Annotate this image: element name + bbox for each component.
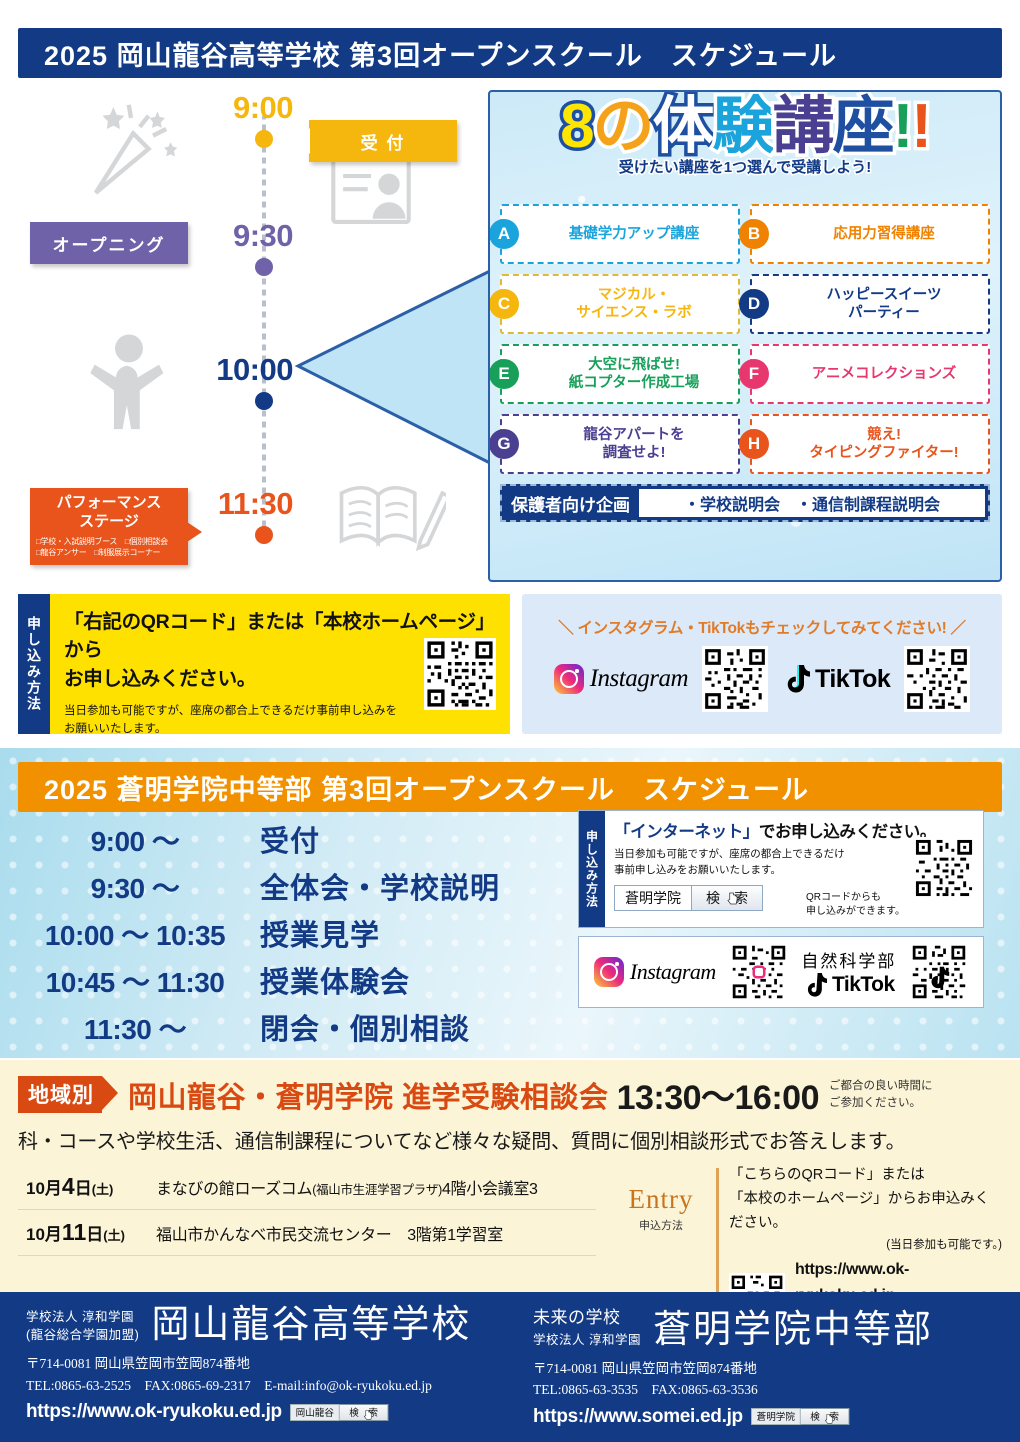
courses-grid: A 基礎学力アップ講座 B 応用力習得講座 C マジカル・ サイエンス・ラボ D bbox=[490, 200, 1000, 474]
footer-ryukoku: 学校法人 淳和学園 (龍谷総合学園加盟) 岡山龍谷高等学校 〒714-0081 … bbox=[0, 1292, 513, 1442]
instagram-icon bbox=[554, 664, 584, 694]
somei-instagram-qr-code[interactable] bbox=[730, 943, 788, 1001]
somei-schedule-row: 11:30 〜 閉会・個別相談 bbox=[10, 1006, 570, 1048]
page-footer: 学校法人 淳和学園 (龍谷総合学園加盟) 岡山龍谷高等学校 〒714-0081 … bbox=[0, 1292, 1020, 1442]
timeline-tag-opening: オープニング bbox=[30, 222, 188, 264]
timeline-time-0: 9:00 bbox=[178, 90, 293, 126]
consultation-lead: 科・コースや学校生活、通信制課程についてなど様々な疑問、質問に個別相談形式でお答… bbox=[18, 1125, 1002, 1154]
hero-char-8: 8 bbox=[560, 92, 592, 161]
timeline-dot-1 bbox=[255, 258, 273, 276]
somei-section: 2025 蒼明学院中等部 第3回オープンスクール スケジュール 9:00 〜 受… bbox=[0, 748, 1020, 1058]
course-badge-f: F bbox=[739, 359, 769, 389]
footer-somei-search[interactable]: 蒼明学院 検 索 bbox=[751, 1409, 849, 1426]
footer-somei-top: 未来の学校 学校法人 淳和学園 蒼明学院中等部 bbox=[533, 1306, 1002, 1349]
somei-apply-vertical-label: 申し込み方法 bbox=[579, 811, 605, 927]
consultation-time-note: ご都合の良い時間に ご参加ください。 bbox=[829, 1078, 933, 1110]
entry-line1: 「こちらのQRコード」または bbox=[729, 1164, 1002, 1188]
course-badge-g: G bbox=[489, 429, 519, 459]
tiktok-logo[interactable]: TikTok bbox=[782, 664, 890, 694]
footer-ryukoku-url-row: https://www.ok-ryukoku.ed.jp 岡山龍谷 検 索 bbox=[26, 1401, 495, 1423]
course-badge-h: H bbox=[739, 429, 769, 459]
course-card-h[interactable]: H 競え! タイピングファイター! bbox=[750, 414, 990, 474]
timeline-to-courses-connector bbox=[286, 268, 496, 468]
consultation-date-row: 10月11日(土) 福山市かんなべ市民交流センター 3階第1学習室 bbox=[18, 1210, 596, 1256]
somei-schedule-row: 10:45 〜 11:30 授業体験会 bbox=[10, 959, 570, 1001]
timeline-dot-2 bbox=[255, 392, 273, 410]
instagram-logo[interactable]: Instagram bbox=[554, 664, 688, 694]
footer-ryukoku-search[interactable]: 岡山龍谷 検 索 bbox=[290, 1404, 388, 1421]
consultation-section: 地域別 岡山龍谷・蒼明学院 進学受験相談会 13:30〜16:00 ご都合の良い… bbox=[0, 1060, 1020, 1292]
hero-char-kou: 講 bbox=[773, 92, 833, 161]
place-tail-0: 4階小会議室3 bbox=[442, 1181, 538, 1198]
footer-ryukoku-search-button[interactable]: 検 索 bbox=[339, 1404, 388, 1421]
cursor-hand-icon bbox=[727, 892, 738, 905]
course-label-b: 応用力習得講座 bbox=[833, 225, 935, 243]
somei-club-label: 自然科学部 bbox=[801, 947, 896, 972]
footer-somei-corp-line1: 未来の学校 bbox=[533, 1306, 641, 1331]
place-main-0: まなびの館ローズコム bbox=[156, 1181, 312, 1198]
footer-somei-url-row: https://www.somei.ed.jp 蒼明学院 検 索 bbox=[533, 1406, 1002, 1428]
timeline-tag-label-1: オープニング bbox=[53, 231, 166, 256]
ryukoku-apply-vertical-label: 申し込み方法 bbox=[18, 594, 50, 734]
course-card-a[interactable]: A 基礎学力アップ講座 bbox=[500, 204, 740, 264]
timeline-time-3: 11:30 bbox=[178, 486, 293, 522]
somei-tiktok-logo[interactable]: TikTok bbox=[801, 972, 896, 998]
course-label-h: 競え! タイピングファイター! bbox=[809, 426, 958, 462]
parents-program-item-0: ・学校説明会 bbox=[684, 491, 780, 515]
ryukoku-apply-box: 申し込み方法 「右記のQRコード」または「本校ホームページ」から お申し込みくだ… bbox=[18, 594, 510, 734]
ryukoku-tiktok-qr-code[interactable] bbox=[904, 646, 970, 712]
ryukoku-section: 2025 岡山龍谷高等学校 第3回オープンスクール スケジュール bbox=[18, 28, 1002, 734]
somei-apply-head-rest: でお申し込みください。 bbox=[759, 823, 936, 841]
footer-ryukoku-corp-line1: 学校法人 淳和学園 bbox=[26, 1308, 139, 1326]
date-dow-1: (土) bbox=[103, 1228, 125, 1243]
ryukoku-apply-note-line2: お願いいたします。 bbox=[64, 721, 498, 739]
footer-ryukoku-top: 学校法人 淳和学園 (龍谷総合学園加盟) 岡山龍谷高等学校 bbox=[26, 1306, 495, 1344]
hero-char-za: 座 bbox=[833, 92, 893, 161]
somei-instagram-logo[interactable]: Instagram bbox=[594, 957, 716, 987]
parents-program-label: 保護者向け企画 bbox=[502, 491, 639, 516]
course-card-b[interactable]: B 応用力習得講座 bbox=[750, 204, 990, 264]
somei-event-4: 閉会・個別相談 bbox=[260, 1006, 470, 1048]
courses-grid-row: E 大空に飛ばせ! 紙コプター作成工場 F アニメコレクションズ bbox=[500, 344, 990, 404]
consultation-date-row: 10月4日(土) まなびの館ローズコム(福山市生涯学習プラザ)4階小会議室3 bbox=[18, 1164, 596, 1210]
hero-char-ken: 験 bbox=[713, 92, 773, 161]
performance-stage-tag: パフォーマンス ステージ □学校・入試説明ブース □個別相談会 □龍谷アンサー … bbox=[30, 488, 188, 565]
timeline-dot-3 bbox=[255, 526, 273, 544]
somei-tiktok-qr-code[interactable] bbox=[910, 943, 968, 1001]
id-card-icon bbox=[330, 154, 412, 226]
footer-ryukoku-name: 岡山龍谷高等学校 bbox=[151, 1306, 471, 1344]
somei-apply-body: 「インターネット」でお申し込みください。 当日参加も可能ですが、座席の都合上でき… bbox=[605, 811, 983, 927]
footer-ryukoku-url[interactable]: https://www.ok-ryukoku.ed.jp bbox=[26, 1401, 282, 1423]
somei-time-3: 10:45 〜 11:30 bbox=[10, 961, 260, 1001]
flyer-page: 2025 岡山龍谷高等学校 第3回オープンスクール スケジュール bbox=[0, 0, 1020, 1442]
somei-qr-note: QRコードからも 申し込みができます。 bbox=[806, 891, 905, 919]
footer-somei-name: 蒼明学院中等部 bbox=[653, 1311, 933, 1349]
entry-line2: 「本校のホームページ」からお申込みください。 bbox=[729, 1188, 1002, 1236]
performance-sub-1: □龍谷アンサー □制服展示コーナー bbox=[36, 547, 182, 559]
somei-event-2: 授業見学 bbox=[260, 912, 380, 954]
consultation-time-note-line2: ご参加ください。 bbox=[829, 1095, 933, 1111]
timeline-time-2: 10:00 bbox=[178, 352, 293, 388]
somei-qr-note-line1: QRコードからも bbox=[806, 891, 905, 905]
consultation-time: 13:30〜16:00 bbox=[617, 1070, 819, 1119]
cursor-hand-icon bbox=[363, 1409, 372, 1419]
hero-char-tai: 体 bbox=[653, 92, 713, 161]
consultation-date-1: 10月11日(土) bbox=[26, 1219, 156, 1246]
entry-line3: (当日参加も可能です。) bbox=[729, 1236, 1002, 1255]
footer-somei-search-field[interactable]: 蒼明学院 bbox=[751, 1409, 801, 1426]
somei-time-1: 9:30 〜 bbox=[10, 867, 260, 907]
somei-instagram-label: Instagram bbox=[630, 959, 716, 985]
ryukoku-apply-qr-code[interactable] bbox=[424, 638, 496, 710]
footer-somei-corp-line2: 学校法人 淳和学園 bbox=[533, 1331, 641, 1349]
performance-sub-0: □学校・入試説明ブース □個別相談会 bbox=[36, 536, 182, 548]
somei-apply-qr-code[interactable] bbox=[913, 837, 975, 899]
course-card-e[interactable]: E 大空に飛ばせ! 紙コプター作成工場 bbox=[500, 344, 740, 404]
timeline-dotted-line bbox=[262, 116, 266, 540]
course-label-a: 基礎学力アップ講座 bbox=[569, 225, 700, 243]
courses-grid-row: A 基礎学力アップ講座 B 応用力習得講座 bbox=[500, 204, 990, 264]
courses-panel: 8の体験講座!! 受けたい講座を1つ選んで受講しよう! A 基礎学力アップ講座 … bbox=[488, 90, 1002, 582]
somei-search-button[interactable]: 検 索 bbox=[692, 885, 763, 911]
courses-grid-row: C マジカル・ サイエンス・ラボ D ハッピースイーツ パーティー bbox=[500, 274, 990, 334]
ryukoku-title-band: 2025 岡山龍谷高等学校 第3回オープンスクール スケジュール bbox=[18, 28, 1002, 78]
consultation-time-note-line1: ご都合の良い時間に bbox=[829, 1078, 933, 1094]
hero-char-no: の bbox=[593, 92, 653, 161]
footer-ryukoku-corp: 学校法人 淳和学園 (龍谷総合学園加盟) bbox=[26, 1308, 139, 1344]
parents-program-items: ・学校説明会 ・通信制課程説明会 bbox=[639, 489, 985, 517]
course-card-d[interactable]: D ハッピースイーツ パーティー bbox=[750, 274, 990, 334]
somei-sns-box: Instagram bbox=[578, 936, 984, 1008]
ryukoku-sns-heading: ＼ インスタグラム・TikTokもチェックしてみてください! ／ bbox=[558, 616, 966, 638]
performance-stage-line1: パフォーマンス bbox=[36, 494, 182, 513]
course-card-c[interactable]: C マジカル・ サイエンス・ラボ bbox=[500, 274, 740, 334]
date-suffix-1: 日 bbox=[86, 1225, 103, 1244]
consultation-place-0: まなびの館ローズコム(福山市生涯学習プラザ)4階小会議室3 bbox=[156, 1175, 538, 1199]
hero-exclaim-1: ! bbox=[893, 92, 912, 161]
consultation-region-chip: 地域別 bbox=[18, 1076, 102, 1113]
somei-event-0: 受付 bbox=[260, 818, 320, 860]
somei-inner: 2025 蒼明学院中等部 第3回オープンスクール スケジュール bbox=[18, 762, 1002, 812]
date-day-0: 4 bbox=[62, 1173, 75, 1199]
ryukoku-sns-box: ＼ インスタグラム・TikTokもチェックしてみてください! ／ Instagr… bbox=[522, 594, 1002, 734]
consultation-date-0: 10月4日(土) bbox=[26, 1173, 156, 1200]
date-month-1: 10月 bbox=[26, 1225, 62, 1244]
instagram-icon bbox=[594, 957, 624, 987]
somei-title-band: 2025 蒼明学院中等部 第3回オープンスクール スケジュール bbox=[18, 762, 1002, 812]
parents-program-bar: 保護者向け企画 ・学校説明会 ・通信制課程説明会 bbox=[500, 484, 990, 522]
cursor-hand-icon bbox=[824, 1414, 833, 1424]
somei-tiktok-label: TikTok bbox=[832, 973, 895, 997]
somei-club-tiktok[interactable]: 自然科学部 TikTok bbox=[801, 947, 896, 998]
tiktok-icon bbox=[803, 972, 827, 998]
somei-schedule-row: 9:30 〜 全体会・学校説明 bbox=[10, 865, 570, 907]
courses-hero-title: 8の体験講座!! bbox=[490, 96, 1000, 158]
footer-ryukoku-contact: TEL:0865-63-2525 FAX:0865-69-2317 E-mail… bbox=[26, 1375, 495, 1397]
footer-ryukoku-addr: 〒714-0081 岡山県笠岡市笠岡874番地 bbox=[26, 1353, 495, 1375]
somei-schedule-row: 9:00 〜 受付 bbox=[10, 818, 570, 860]
timeline-tag-label-0: 受 付 bbox=[361, 129, 406, 154]
date-dow-0: (土) bbox=[92, 1182, 114, 1197]
parents-program-item-1: ・通信制課程説明会 bbox=[796, 491, 940, 515]
somei-search-box[interactable]: 蒼明学院 検 索 bbox=[614, 885, 763, 911]
entry-jp-label: 申込方法 bbox=[606, 1217, 716, 1233]
course-card-g[interactable]: G 龍谷アパートを 調査せよ! bbox=[500, 414, 740, 474]
somei-event-3: 授業体験会 bbox=[260, 959, 410, 1001]
somei-apply-head-quoted: 「インターネット」 bbox=[614, 823, 759, 841]
somei-event-1: 全体会・学校説明 bbox=[260, 865, 500, 907]
somei-time-4: 11:30 〜 bbox=[10, 1008, 260, 1048]
course-badge-c: C bbox=[489, 289, 519, 319]
entry-en-label: Entry bbox=[606, 1184, 716, 1215]
somei-time-2: 10:00 〜 10:35 bbox=[10, 914, 260, 954]
place-main-1: 福山市かんなべ市民交流センター 3階第1学習室 bbox=[156, 1227, 503, 1244]
somei-schedule: 9:00 〜 受付 9:30 〜 全体会・学校説明 10:00 〜 10:35 … bbox=[10, 818, 570, 1053]
courses-hero: 8の体験講座!! 受けたい講座を1つ選んで受講しよう! bbox=[490, 92, 1000, 200]
footer-somei-corp: 未来の学校 学校法人 淳和学園 bbox=[533, 1306, 641, 1349]
footer-somei-addr: 〒714-0081 岡山県笠岡市笠岡874番地 bbox=[533, 1358, 1002, 1380]
course-label-g: 龍谷アパートを 調査せよ! bbox=[583, 426, 684, 462]
somei-qr-note-line2: 申し込みができます。 bbox=[806, 905, 905, 919]
date-month-0: 10月 bbox=[26, 1179, 62, 1198]
tiktok-icon bbox=[782, 664, 810, 694]
ryukoku-apply-row: 申し込み方法 「右記のQRコード」または「本校ホームページ」から お申し込みくだ… bbox=[18, 594, 1002, 734]
course-label-d: ハッピースイーツ パーティー bbox=[827, 286, 942, 322]
timeline-row-0: 9:00 受 付 bbox=[18, 90, 470, 150]
entry-word-block: Entry 申込方法 bbox=[606, 1164, 716, 1233]
somei-search-field[interactable]: 蒼明学院 bbox=[614, 885, 692, 911]
tiktok-label: TikTok bbox=[815, 665, 890, 694]
footer-somei-contact: TEL:0865-63-3535 FAX:0865-63-3536 bbox=[533, 1379, 1002, 1401]
footer-ryukoku-search-field[interactable]: 岡山龍谷 bbox=[290, 1404, 340, 1421]
somei-apply-box: 申し込み方法 「インターネット」でお申し込みください。 当日参加も可能ですが、座… bbox=[578, 810, 984, 928]
footer-somei-url[interactable]: https://www.somei.ed.jp bbox=[533, 1406, 743, 1428]
performance-stage-line2: ステージ bbox=[36, 513, 182, 532]
course-badge-b: B bbox=[739, 219, 769, 249]
courses-grid-row: G 龍谷アパートを 調査せよ! H 競え! タイピングファイター! bbox=[500, 414, 990, 474]
footer-somei-search-button[interactable]: 検 索 bbox=[800, 1409, 849, 1426]
ryukoku-instagram-qr-code[interactable] bbox=[702, 646, 768, 712]
course-label-c: マジカル・ サイエンス・ラボ bbox=[576, 286, 692, 322]
course-card-f[interactable]: F アニメコレクションズ bbox=[750, 344, 990, 404]
timeline-dot-0 bbox=[255, 130, 273, 148]
consultation-header: 地域別 岡山龍谷・蒼明学院 進学受験相談会 13:30〜16:00 ご都合の良い… bbox=[18, 1070, 1002, 1119]
somei-time-0: 9:00 〜 bbox=[10, 820, 260, 860]
course-label-f: アニメコレクションズ bbox=[812, 365, 956, 383]
ryukoku-sns-row: Instagram bbox=[554, 646, 971, 712]
instagram-label: Instagram bbox=[590, 665, 688, 693]
hero-exclaim-2: ! bbox=[911, 92, 930, 161]
somei-schedule-row: 10:00 〜 10:35 授業見学 bbox=[10, 912, 570, 954]
course-badge-d: D bbox=[739, 289, 769, 319]
timeline-tag-reception: 受 付 bbox=[309, 120, 457, 162]
course-label-e: 大空に飛ばせ! 紙コプター作成工場 bbox=[569, 356, 700, 392]
ryukoku-apply-body: 「右記のQRコード」または「本校ホームページ」から お申し込みください。 当日参… bbox=[50, 594, 510, 734]
date-day-1: 11 bbox=[62, 1219, 86, 1245]
footer-somei: 未来の学校 学校法人 淳和学園 蒼明学院中等部 〒714-0081 岡山県笠岡市… bbox=[513, 1292, 1020, 1442]
footer-ryukoku-corp-line2: (龍谷総合学園加盟) bbox=[26, 1326, 139, 1344]
course-badge-e: E bbox=[489, 359, 519, 389]
course-badge-a: A bbox=[489, 219, 519, 249]
place-paren-0: (福山市生涯学習プラザ) bbox=[312, 1183, 442, 1197]
consultation-title: 岡山龍谷・蒼明学院 進学受験相談会 bbox=[128, 1074, 609, 1116]
consultation-place-1: 福山市かんなべ市民交流センター 3階第1学習室 bbox=[156, 1221, 503, 1245]
date-suffix-0: 日 bbox=[75, 1179, 92, 1198]
